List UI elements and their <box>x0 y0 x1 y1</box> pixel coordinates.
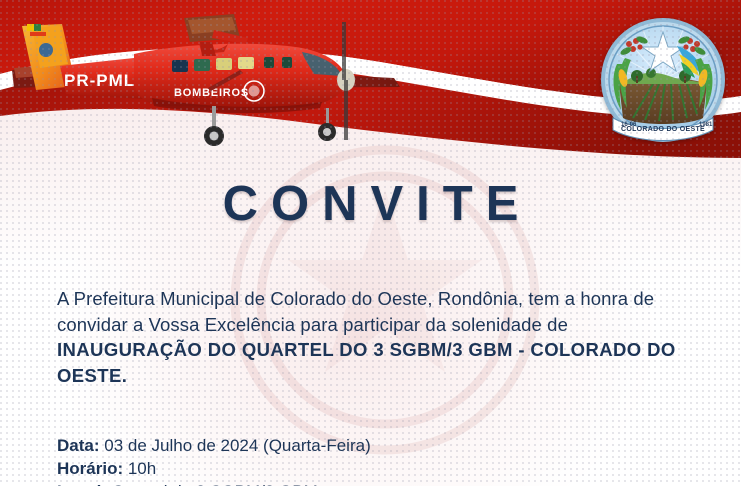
detail-row-local: Local: Quartel do 3 SGBM/3 GBM <box>57 480 371 486</box>
detail-value-horario: 10h <box>123 459 156 478</box>
detail-label-data: Data: <box>57 436 100 455</box>
invitation-body-emphasis: INAUGURAÇÃO DO QUARTEL DO 3 SGBM/3 GBM -… <box>57 339 676 386</box>
detail-value-local: Quartel do 3 SGBM/3 GBM <box>107 482 318 486</box>
event-details: Data: 03 de Julho de 2024 (Quarta-Feira)… <box>57 434 371 486</box>
page-title: CONVITE <box>0 176 741 232</box>
detail-value-data: 03 de Julho de 2024 (Quarta-Feira) <box>100 436 371 455</box>
detail-row-data: Data: 03 de Julho de 2024 (Quarta-Feira) <box>57 434 371 457</box>
invitation-body-lead: A Prefeitura Municipal de Colorado do Oe… <box>57 288 654 335</box>
invitation-poster: PR-PML BOMBEIROS <box>0 0 741 486</box>
detail-label-horario: Horário: <box>57 459 123 478</box>
invitation-body: A Prefeitura Municipal de Colorado do Oe… <box>57 286 715 388</box>
detail-label-local: Local: <box>57 482 107 486</box>
poster-content: CONVITE A Prefeitura Municipal de Colora… <box>0 0 741 486</box>
detail-row-horario: Horário: 10h <box>57 457 371 480</box>
